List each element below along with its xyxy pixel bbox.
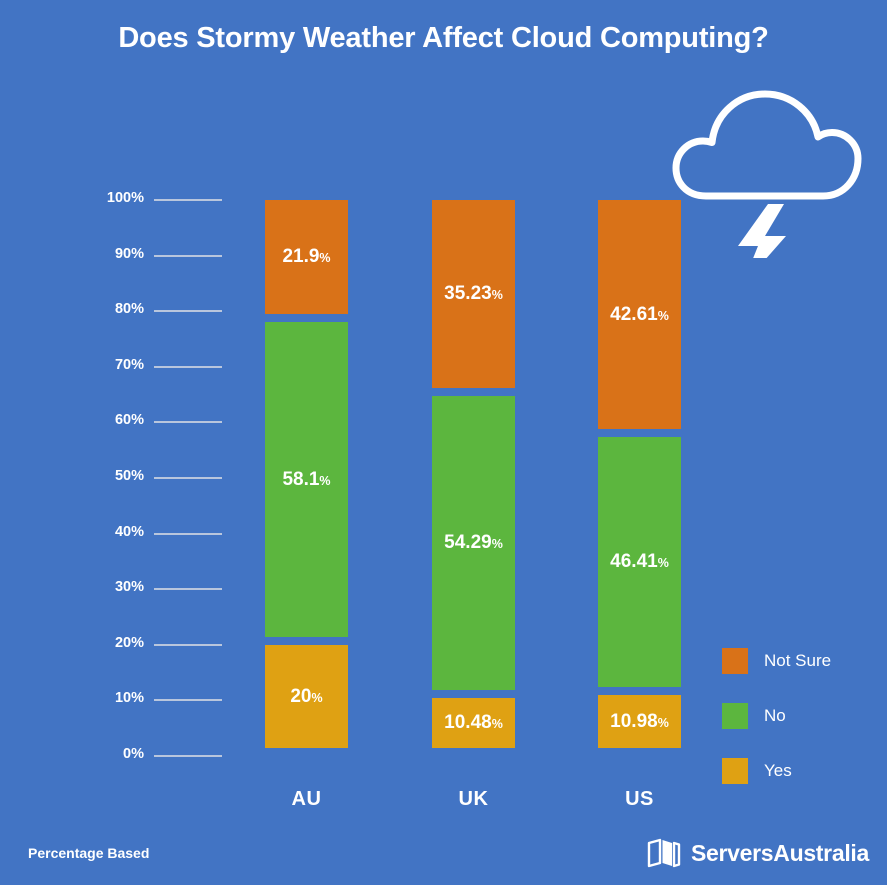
bar-value-label: 35.23% bbox=[444, 284, 503, 303]
infographic-canvas: Does Stormy Weather Affect Cloud Computi… bbox=[0, 0, 887, 885]
bar-value-label: 42.61% bbox=[610, 305, 669, 324]
y-axis-tick-line bbox=[154, 533, 222, 535]
y-axis-tick: 0% bbox=[96, 749, 222, 763]
bar-segment-us-yes[interactable]: 10.98% bbox=[598, 695, 681, 748]
bar-value-label: 46.41% bbox=[610, 552, 669, 571]
brand-logo: ServersAustralia bbox=[647, 838, 869, 868]
y-axis-tick-line bbox=[154, 255, 222, 257]
legend-swatch-no bbox=[722, 703, 748, 729]
bar-segment-us-no[interactable]: 46.41% bbox=[598, 437, 681, 687]
footer-note: Percentage Based bbox=[28, 845, 149, 861]
x-axis-category-label-uk: UK bbox=[432, 788, 515, 811]
legend-swatch-yes bbox=[722, 758, 748, 784]
y-axis-tick: 30% bbox=[96, 582, 222, 596]
y-axis-tick-label: 0% bbox=[123, 746, 144, 762]
bar-segment-au-no[interactable]: 58.1% bbox=[265, 322, 348, 637]
y-axis-tick-label: 60% bbox=[115, 412, 144, 428]
y-axis-tick: 100% bbox=[96, 193, 222, 207]
y-axis-tick: 80% bbox=[96, 304, 222, 318]
y-axis-tick-line bbox=[154, 644, 222, 646]
bar-column-us: 10.98%46.41%42.61%US bbox=[598, 0, 681, 885]
legend-item-yes[interactable]: Yes bbox=[722, 752, 882, 790]
bar-value-unit: % bbox=[312, 691, 323, 705]
bar-value-unit: % bbox=[658, 556, 669, 570]
legend-item-no[interactable]: No bbox=[722, 697, 882, 735]
bar-value-unit: % bbox=[658, 309, 669, 323]
y-axis-tick: 40% bbox=[96, 527, 222, 541]
y-axis-tick: 50% bbox=[96, 471, 222, 485]
bar-value-number: 10.98 bbox=[610, 711, 658, 732]
bar-value-number: 10.48 bbox=[444, 712, 492, 733]
bar-value-label: 21.9% bbox=[282, 247, 330, 266]
bar-value-unit: % bbox=[492, 717, 503, 731]
y-axis-tick-line bbox=[154, 755, 222, 757]
y-axis-tick-label: 70% bbox=[115, 357, 144, 373]
y-axis-tick-label: 40% bbox=[115, 524, 144, 540]
y-axis-tick: 20% bbox=[96, 638, 222, 652]
bar-value-unit: % bbox=[319, 251, 330, 265]
y-axis-tick-label: 10% bbox=[115, 690, 144, 706]
y-axis-tick-label: 50% bbox=[115, 468, 144, 484]
y-axis-tick-line bbox=[154, 310, 222, 312]
bar-segment-uk-not-sure[interactable]: 35.23% bbox=[432, 200, 515, 388]
bar-segment-au-yes[interactable]: 20% bbox=[265, 645, 348, 748]
y-axis-tick: 70% bbox=[96, 360, 222, 374]
y-axis-tick: 10% bbox=[96, 693, 222, 707]
y-axis-tick-label: 100% bbox=[107, 190, 144, 206]
bar-value-unit: % bbox=[658, 716, 669, 730]
legend-label: Not Sure bbox=[764, 651, 831, 671]
server-rack-icon bbox=[647, 838, 681, 868]
bar-value-number: 46.41 bbox=[610, 551, 658, 572]
y-axis-tick-line bbox=[154, 699, 222, 701]
bar-value-label: 54.29% bbox=[444, 533, 503, 552]
y-axis-tick-line bbox=[154, 366, 222, 368]
bar-value-number: 42.61 bbox=[610, 304, 658, 325]
bar-column-uk: 10.48%54.29%35.23%UK bbox=[432, 0, 515, 885]
bar-segment-au-not-sure[interactable]: 21.9% bbox=[265, 200, 348, 314]
y-axis-tick-line bbox=[154, 477, 222, 479]
bar-value-number: 58.1 bbox=[282, 469, 319, 490]
legend-swatch-not-sure bbox=[722, 648, 748, 674]
chart-legend: Not SureNoYes bbox=[722, 642, 882, 807]
y-axis-tick-line bbox=[154, 588, 222, 590]
legend-item-not-sure[interactable]: Not Sure bbox=[722, 642, 882, 680]
bar-segment-us-not-sure[interactable]: 42.61% bbox=[598, 200, 681, 429]
y-axis-tick-line bbox=[154, 199, 222, 201]
legend-label: No bbox=[764, 706, 786, 726]
bar-value-label: 10.98% bbox=[610, 712, 669, 731]
y-axis-tick-label: 90% bbox=[115, 246, 144, 262]
bar-value-unit: % bbox=[492, 288, 503, 302]
bar-column-au: 20%58.1%21.9%AU bbox=[265, 0, 348, 885]
x-axis-category-label-us: US bbox=[598, 788, 681, 811]
bar-segment-uk-no[interactable]: 54.29% bbox=[432, 396, 515, 690]
bar-segment-uk-yes[interactable]: 10.48% bbox=[432, 698, 515, 748]
y-axis-tick-label: 30% bbox=[115, 579, 144, 595]
bar-value-label: 20% bbox=[290, 687, 322, 706]
legend-label: Yes bbox=[764, 761, 792, 781]
brand-name: ServersAustralia bbox=[691, 840, 869, 867]
y-axis-tick: 60% bbox=[96, 415, 222, 429]
y-axis-tick-line bbox=[154, 421, 222, 423]
y-axis-tick-label: 20% bbox=[115, 635, 144, 651]
y-axis-tick: 90% bbox=[96, 249, 222, 263]
bar-value-number: 21.9 bbox=[282, 246, 319, 267]
bar-value-number: 54.29 bbox=[444, 532, 492, 553]
y-axis-tick-label: 80% bbox=[115, 301, 144, 317]
bar-value-label: 58.1% bbox=[282, 470, 330, 489]
bar-value-number: 35.23 bbox=[444, 283, 492, 304]
bar-value-number: 20 bbox=[290, 686, 311, 707]
x-axis-category-label-au: AU bbox=[265, 788, 348, 811]
bar-value-label: 10.48% bbox=[444, 713, 503, 732]
bar-value-unit: % bbox=[319, 474, 330, 488]
bar-value-unit: % bbox=[492, 537, 503, 551]
